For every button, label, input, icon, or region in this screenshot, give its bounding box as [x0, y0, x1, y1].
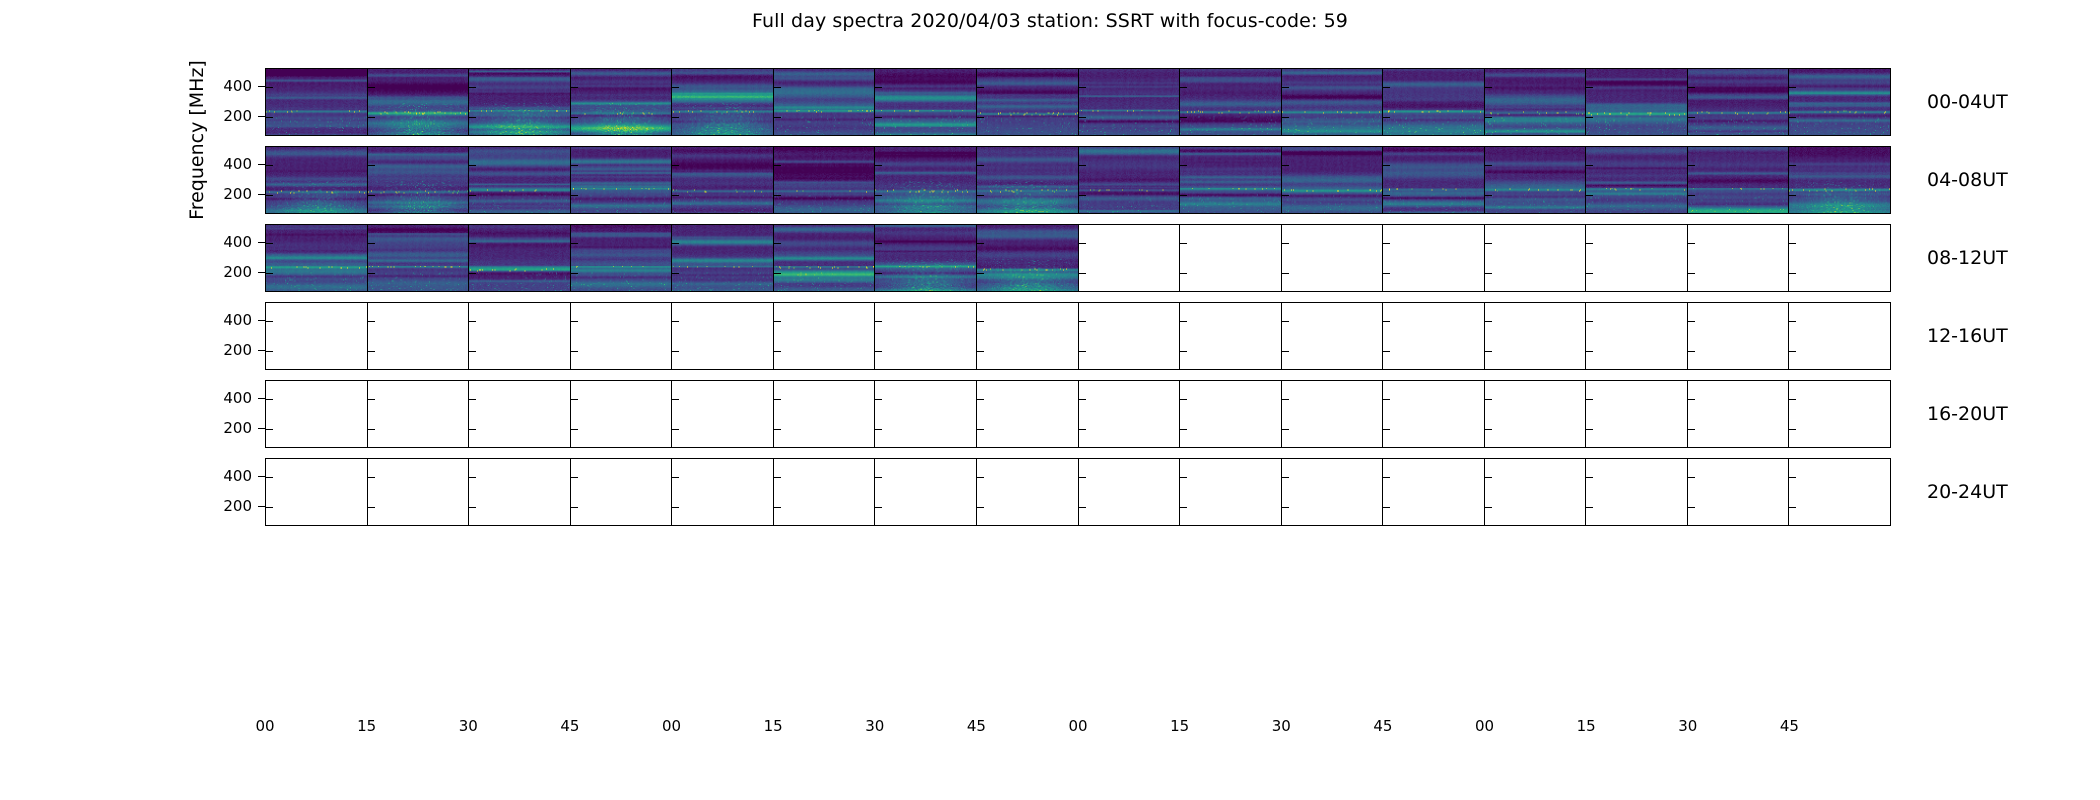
y-tick-mark: [1079, 87, 1086, 88]
y-tick-mark: [368, 351, 375, 352]
spectrogram-panel[interactable]: [1789, 225, 1890, 291]
y-tick-label: 200: [223, 341, 252, 359]
y-tick-mark: [368, 399, 375, 400]
y-tick-mark: [1586, 507, 1593, 508]
y-tick-mark: [1383, 273, 1390, 274]
y-tick-mark: [1688, 429, 1695, 430]
spectrogram-panel[interactable]: [875, 459, 977, 525]
spectrogram-panel[interactable]: [1789, 303, 1890, 369]
spectrogram-canvas: [1079, 147, 1180, 213]
spectrogram-panel[interactable]: [1079, 459, 1181, 525]
y-tick-mark: [977, 477, 984, 478]
spectrogram-panel[interactable]: [1586, 147, 1688, 213]
spectrogram-canvas: [368, 147, 469, 213]
spectrogram-panel[interactable]: [1586, 459, 1688, 525]
spectrogram-panel[interactable]: [1789, 381, 1890, 447]
y-tick-mark: [977, 243, 984, 244]
spectrogram-panel[interactable]: [875, 303, 977, 369]
y-tick-mark: [368, 87, 375, 88]
y-tick-mark: [1485, 87, 1492, 88]
y-tick-mark: [1586, 165, 1593, 166]
spectrogram-panel[interactable]: [469, 381, 571, 447]
row-axes: [265, 380, 1891, 448]
spectrogram-panel[interactable]: [469, 459, 571, 525]
y-tick-mark: [1485, 399, 1492, 400]
y-tick-label: 200: [223, 263, 252, 281]
y-tick-mark: [1282, 429, 1289, 430]
spectrogram-canvas: [1586, 147, 1687, 213]
x-tick-label: 45: [967, 717, 986, 735]
spectrogram-panel[interactable]: [1688, 303, 1790, 369]
spectrogram-panel[interactable]: [672, 69, 774, 135]
y-tick-label: 200: [223, 185, 252, 203]
spectrogram-canvas: [977, 225, 1078, 291]
spectrogram-panel[interactable]: [1586, 381, 1688, 447]
y-tick-mark: [1383, 351, 1390, 352]
y-tick-mark: [1180, 399, 1187, 400]
spectrogram-panel[interactable]: [774, 147, 876, 213]
y-tick-mark: [977, 429, 984, 430]
y-tick-mark: [469, 399, 476, 400]
y-tick-mark: [1688, 117, 1695, 118]
spectrogram-panel[interactable]: [1180, 381, 1282, 447]
spectrogram-panel[interactable]: [1282, 459, 1384, 525]
y-tick-mark: [672, 429, 679, 430]
spectrogram-panel[interactable]: [1586, 69, 1688, 135]
spectrogram-panel[interactable]: [1688, 147, 1790, 213]
spectrogram-canvas: [571, 147, 672, 213]
y-tick-mark: [1688, 195, 1695, 196]
y-tick-mark: [1383, 117, 1390, 118]
y-tick-mark: [774, 165, 781, 166]
y-tick-mark: [469, 243, 476, 244]
spectrogram-panel[interactable]: [1282, 69, 1384, 135]
y-tick-mark: [1079, 477, 1086, 478]
spectrogram-canvas: [1383, 147, 1484, 213]
y-tick-mark: [571, 429, 578, 430]
spectrogram-panel[interactable]: [1485, 225, 1587, 291]
spectrogram-panel[interactable]: [1180, 459, 1282, 525]
spectrogram-panel[interactable]: [875, 381, 977, 447]
y-tick-mark: [1282, 273, 1289, 274]
spectrogram-panel[interactable]: [1079, 69, 1181, 135]
spectrogram-panel[interactable]: [1383, 381, 1485, 447]
y-tick-mark: [469, 273, 476, 274]
y-tick-mark: [571, 507, 578, 508]
spectrogram-panel[interactable]: [1485, 381, 1587, 447]
spectrogram-panel[interactable]: [1180, 303, 1282, 369]
y-tick-mark: [774, 351, 781, 352]
x-tick-label: 30: [1678, 717, 1697, 735]
x-tick-label: 00: [1475, 717, 1494, 735]
y-tick-mark: [774, 507, 781, 508]
y-tick-mark: [977, 165, 984, 166]
y-tick-mark: [672, 195, 679, 196]
y-tick-mark: [266, 87, 273, 88]
spectrogram-panel[interactable]: [571, 459, 673, 525]
spectrogram-panel[interactable]: [1282, 303, 1384, 369]
y-tick-mark: [571, 117, 578, 118]
y-tick-mark: [258, 398, 265, 399]
y-tick-mark: [977, 195, 984, 196]
spectrogram-panel[interactable]: [1180, 225, 1282, 291]
spectrogram-panel[interactable]: [469, 225, 571, 291]
y-tick-mark: [266, 399, 273, 400]
y-tick-mark: [1789, 243, 1796, 244]
spectrogram-panel[interactable]: [1688, 69, 1790, 135]
y-tick-mark: [672, 165, 679, 166]
spectrogram-panel[interactable]: [266, 459, 368, 525]
spectrogram-panel[interactable]: [672, 459, 774, 525]
y-tick-mark: [469, 507, 476, 508]
y-tick-mark: [1079, 507, 1086, 508]
spectrogram-panel[interactable]: [774, 69, 876, 135]
spectrogram-panel[interactable]: [1079, 147, 1181, 213]
spectrogram-panel[interactable]: [1282, 147, 1384, 213]
y-tick-mark: [977, 117, 984, 118]
y-tick-mark: [672, 117, 679, 118]
spectrogram-panel[interactable]: [875, 225, 977, 291]
spectrogram-panel[interactable]: [571, 147, 673, 213]
y-tick-mark: [1688, 477, 1695, 478]
y-tick-mark: [1586, 351, 1593, 352]
y-tick-mark: [1079, 273, 1086, 274]
spectrogram-canvas: [774, 225, 875, 291]
y-tick-mark: [258, 116, 265, 117]
y-tick-mark: [266, 429, 273, 430]
y-tick-mark: [672, 243, 679, 244]
row-time-label: 12-16UT: [1927, 325, 2008, 347]
y-tick-mark: [258, 164, 265, 165]
y-tick-mark: [1789, 273, 1796, 274]
spectrogram-canvas: [1180, 147, 1281, 213]
y-tick-mark: [258, 320, 265, 321]
spectrogram-panel[interactable]: [1586, 225, 1688, 291]
y-tick-mark: [571, 273, 578, 274]
spectrogram-panel[interactable]: [1383, 225, 1485, 291]
row-axes: [265, 224, 1891, 292]
spectrogram-panel[interactable]: [875, 69, 977, 135]
y-tick-mark: [774, 321, 781, 322]
x-tick-label: 30: [459, 717, 478, 735]
spectrogram-panel[interactable]: [266, 303, 368, 369]
y-tick-mark: [672, 477, 679, 478]
spectrogram-panel[interactable]: [571, 381, 673, 447]
spectrogram-canvas: [1789, 69, 1890, 135]
y-tick-mark: [1383, 429, 1390, 430]
y-tick-mark: [774, 117, 781, 118]
y-tick-mark: [1180, 87, 1187, 88]
panel-grid: [266, 303, 1890, 369]
y-tick-mark: [1079, 351, 1086, 352]
row-time-label: 04-08UT: [1927, 169, 2008, 191]
spectrogram-canvas: [672, 69, 773, 135]
spectrogram-canvas: [1282, 147, 1383, 213]
row-time-label: 08-12UT: [1927, 247, 2008, 269]
y-tick-mark: [1485, 351, 1492, 352]
y-tick-mark: [1586, 87, 1593, 88]
y-tick-mark: [1789, 165, 1796, 166]
y-tick-mark: [258, 194, 265, 195]
y-tick-mark: [258, 242, 265, 243]
y-tick-mark: [368, 195, 375, 196]
spectrogram-panel[interactable]: [1180, 147, 1282, 213]
y-tick-mark: [1586, 321, 1593, 322]
y-tick-mark: [1383, 321, 1390, 322]
y-tick-mark: [1688, 87, 1695, 88]
spectrogram-panel[interactable]: [571, 303, 673, 369]
y-tick-mark: [469, 477, 476, 478]
y-tick-mark: [1180, 507, 1187, 508]
spectrogram-panel[interactable]: [977, 459, 1079, 525]
spectrogram-panel[interactable]: [774, 459, 876, 525]
y-tick-mark: [1485, 429, 1492, 430]
spectrogram-panel[interactable]: [672, 147, 774, 213]
y-tick-mark: [1688, 351, 1695, 352]
y-tick-mark: [368, 477, 375, 478]
spectrogram-panel[interactable]: [1383, 147, 1485, 213]
y-tick-mark: [258, 506, 265, 507]
y-tick-mark: [1789, 507, 1796, 508]
panel-grid: [266, 69, 1890, 135]
spectrogram-panel[interactable]: [1282, 225, 1384, 291]
y-tick-mark: [875, 321, 882, 322]
y-tick-mark: [1079, 429, 1086, 430]
spectrogram-panel[interactable]: [774, 381, 876, 447]
y-tick-mark: [1586, 243, 1593, 244]
y-tick-mark: [1586, 429, 1593, 430]
spectrogram-panel[interactable]: [672, 303, 774, 369]
y-tick-mark: [1688, 243, 1695, 244]
spectrogram-panel[interactable]: [1688, 381, 1790, 447]
y-tick-label: 400: [223, 155, 252, 173]
y-tick-mark: [266, 507, 273, 508]
y-tick-label: 200: [223, 419, 252, 437]
spectrogram-panel[interactable]: [774, 303, 876, 369]
spectrogram-canvas: [977, 147, 1078, 213]
spectrogram-panel[interactable]: [1485, 459, 1587, 525]
y-tick-mark: [774, 477, 781, 478]
spectrogram-panel[interactable]: [1079, 381, 1181, 447]
y-tick-mark: [368, 117, 375, 118]
row-axes: [265, 68, 1891, 136]
spectrogram-panel[interactable]: [1789, 147, 1890, 213]
y-tick-mark: [1282, 165, 1289, 166]
y-tick-label: 200: [223, 497, 252, 515]
x-tick-label: 30: [865, 717, 884, 735]
y-tick-mark: [258, 350, 265, 351]
y-tick-mark: [368, 165, 375, 166]
y-tick-mark: [875, 429, 882, 430]
spectrogram-canvas: [875, 225, 976, 291]
spectrogram-panel[interactable]: [469, 303, 571, 369]
y-tick-mark: [977, 273, 984, 274]
spectrogram-panel[interactable]: [1688, 459, 1790, 525]
spectrogram-panel[interactable]: [977, 69, 1079, 135]
spectrogram-panel[interactable]: [368, 147, 470, 213]
y-tick-mark: [266, 477, 273, 478]
y-tick-mark: [368, 321, 375, 322]
y-tick-mark: [1789, 351, 1796, 352]
spectrogram-panel[interactable]: [571, 69, 673, 135]
y-tick-mark: [368, 429, 375, 430]
spectrogram-panel[interactable]: [875, 147, 977, 213]
spectrogram-row: 40020012-16UT: [265, 302, 1891, 370]
y-tick-mark: [977, 351, 984, 352]
spectrogram-panel[interactable]: [368, 381, 470, 447]
y-tick-mark: [266, 321, 273, 322]
x-tick-label: 45: [560, 717, 579, 735]
y-tick-mark: [875, 117, 882, 118]
spectrogram-canvas: [1079, 69, 1180, 135]
y-tick-mark: [571, 165, 578, 166]
y-tick-mark: [1282, 243, 1289, 244]
y-tick-mark: [875, 273, 882, 274]
y-tick-mark: [1282, 87, 1289, 88]
y-tick-mark: [1079, 321, 1086, 322]
spectrogram-canvas: [672, 147, 773, 213]
spectrogram-canvas: [1485, 147, 1586, 213]
y-tick-mark: [774, 87, 781, 88]
spectrogram-panel[interactable]: [1282, 381, 1384, 447]
spectrogram-panel[interactable]: [1485, 69, 1587, 135]
spectrogram-panel[interactable]: [672, 381, 774, 447]
spectrogram-panel[interactable]: [1789, 459, 1890, 525]
y-tick-mark: [1789, 87, 1796, 88]
y-tick-mark: [1586, 399, 1593, 400]
y-tick-mark: [258, 86, 265, 87]
spectrogram-canvas: [1383, 69, 1484, 135]
y-tick-mark: [1688, 507, 1695, 508]
spectrogram-row: 40020000-04UT: [265, 68, 1891, 136]
y-tick-mark: [1079, 117, 1086, 118]
y-tick-mark: [1282, 477, 1289, 478]
y-tick-mark: [368, 273, 375, 274]
spectrogram-panel[interactable]: [977, 225, 1079, 291]
spectrogram-panel[interactable]: [469, 147, 571, 213]
spectrogram-panel[interactable]: [1079, 303, 1181, 369]
panel-grid: [266, 381, 1890, 447]
spectrogram-canvas: [1282, 69, 1383, 135]
y-tick-mark: [1282, 117, 1289, 118]
spectrogram-panel[interactable]: [977, 147, 1079, 213]
spectrogram-panel[interactable]: [1079, 225, 1181, 291]
y-tick-mark: [1079, 399, 1086, 400]
spectrogram-panel[interactable]: [571, 225, 673, 291]
y-tick-mark: [1383, 399, 1390, 400]
spectrogram-row: 40020020-24UT: [265, 458, 1891, 526]
spectrogram-panel[interactable]: [774, 225, 876, 291]
spectrogram-canvas: [266, 225, 367, 291]
spectrogram-panel[interactable]: [672, 225, 774, 291]
y-tick-label: 400: [223, 77, 252, 95]
y-tick-mark: [774, 429, 781, 430]
y-tick-mark: [977, 321, 984, 322]
y-tick-label: 400: [223, 389, 252, 407]
y-tick-mark: [571, 399, 578, 400]
spectrogram-canvas: [977, 69, 1078, 135]
y-tick-mark: [469, 87, 476, 88]
spectrogram-panel[interactable]: [469, 69, 571, 135]
y-tick-mark: [1079, 195, 1086, 196]
spectrogram-panel[interactable]: [266, 69, 368, 135]
y-tick-mark: [469, 117, 476, 118]
spectrogram-panel[interactable]: [977, 303, 1079, 369]
spectrogram-panel[interactable]: [1383, 303, 1485, 369]
spectrogram-panel[interactable]: [368, 459, 470, 525]
y-tick-mark: [1789, 321, 1796, 322]
spectrogram-panel[interactable]: [368, 225, 470, 291]
y-tick-mark: [1586, 195, 1593, 196]
y-tick-mark: [977, 399, 984, 400]
x-tick-label: 15: [764, 717, 783, 735]
y-tick-mark: [774, 399, 781, 400]
spectrogram-panel[interactable]: [1180, 69, 1282, 135]
y-tick-mark: [368, 243, 375, 244]
y-tick-label: 400: [223, 311, 252, 329]
spectrogram-panel[interactable]: [368, 303, 470, 369]
spectrogram-panel[interactable]: [1383, 459, 1485, 525]
y-tick-mark: [1180, 351, 1187, 352]
spectrogram-canvas: [266, 147, 367, 213]
spectrogram-panel[interactable]: [266, 147, 368, 213]
spectrogram-panel[interactable]: [266, 225, 368, 291]
y-tick-mark: [469, 321, 476, 322]
x-tick-label: 00: [1068, 717, 1087, 735]
y-tick-mark: [1789, 117, 1796, 118]
spectrogram-canvas: [1180, 69, 1281, 135]
spectrogram-panel[interactable]: [1485, 303, 1587, 369]
y-tick-mark: [266, 165, 273, 166]
spectrogram-canvas: [1789, 147, 1890, 213]
y-tick-mark: [1383, 507, 1390, 508]
spectrogram-canvas: [469, 225, 570, 291]
y-tick-mark: [875, 351, 882, 352]
spectrogram-panel[interactable]: [1485, 147, 1587, 213]
y-tick-mark: [1688, 273, 1695, 274]
spectrogram-panel[interactable]: [266, 381, 368, 447]
y-tick-mark: [1789, 195, 1796, 196]
y-tick-mark: [1586, 117, 1593, 118]
spectrogram-panel[interactable]: [368, 69, 470, 135]
y-tick-label: 400: [223, 233, 252, 251]
y-tick-mark: [1586, 477, 1593, 478]
y-tick-mark: [1383, 165, 1390, 166]
spectrogram-panel[interactable]: [1586, 303, 1688, 369]
spectrogram-canvas: [469, 147, 570, 213]
y-tick-mark: [1383, 477, 1390, 478]
y-tick-mark: [875, 195, 882, 196]
y-tick-mark: [875, 507, 882, 508]
spectrogram-panel[interactable]: [1383, 69, 1485, 135]
y-tick-mark: [1180, 429, 1187, 430]
spectrogram-panel[interactable]: [1688, 225, 1790, 291]
y-tick-mark: [469, 165, 476, 166]
y-tick-mark: [258, 272, 265, 273]
y-tick-mark: [266, 117, 273, 118]
y-tick-mark: [1180, 321, 1187, 322]
x-tick-label: 30: [1272, 717, 1291, 735]
spectrogram-panel[interactable]: [1789, 69, 1890, 135]
spectrogram-panel[interactable]: [977, 381, 1079, 447]
y-tick-mark: [266, 243, 273, 244]
y-tick-mark: [1079, 243, 1086, 244]
row-axes: [265, 458, 1891, 526]
spectrogram-row: 40020004-08UT: [265, 146, 1891, 214]
x-tick-label: 15: [1577, 717, 1596, 735]
figure-title: Full day spectra 2020/04/03 station: SSR…: [0, 10, 2100, 32]
spectrogram-canvas: [672, 225, 773, 291]
